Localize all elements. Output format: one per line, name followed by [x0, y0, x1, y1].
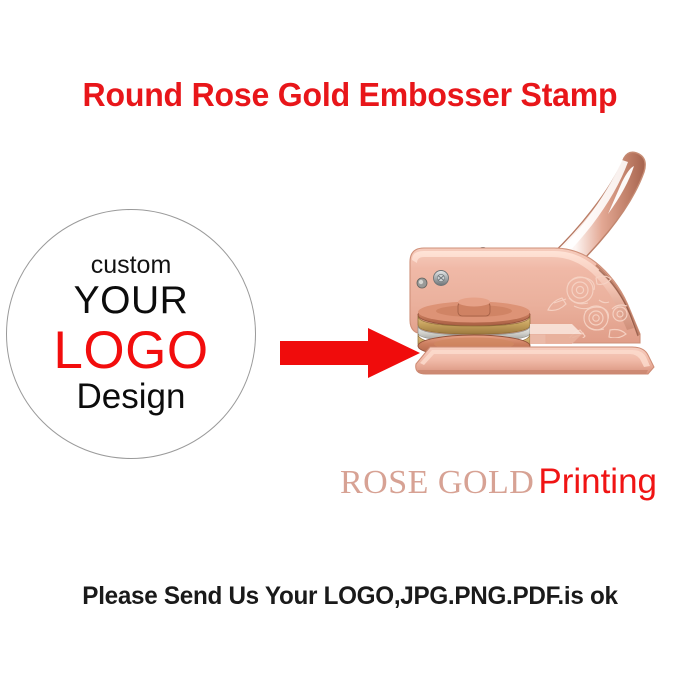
embosser-base — [416, 347, 654, 374]
embosser-stamp-icon — [396, 138, 692, 434]
logo-line-logo: LOGO — [53, 324, 208, 378]
material-label: ROSE GOLD — [340, 464, 534, 502]
footer-note: Please Send Us Your LOGO,JPG.PNG.PDF.is … — [11, 582, 690, 611]
body-pin — [417, 278, 427, 288]
embosser-jaw-tip — [530, 324, 582, 344]
logo-preview-circle: custom YOUR LOGO Design — [6, 209, 256, 459]
page-title: Round Rose Gold Embosser Stamp — [11, 76, 690, 114]
logo-line-your: YOUR — [74, 281, 189, 322]
process-label: Printing — [538, 462, 657, 502]
material-caption: ROSE GOLD Printing — [340, 462, 685, 504]
product-image-canvas: Round Rose Gold Embosser Stamp custom YO… — [0, 0, 700, 700]
logo-line-design: Design — [77, 379, 186, 416]
pivot-screw — [434, 271, 449, 286]
logo-line-custom: custom — [91, 252, 172, 278]
